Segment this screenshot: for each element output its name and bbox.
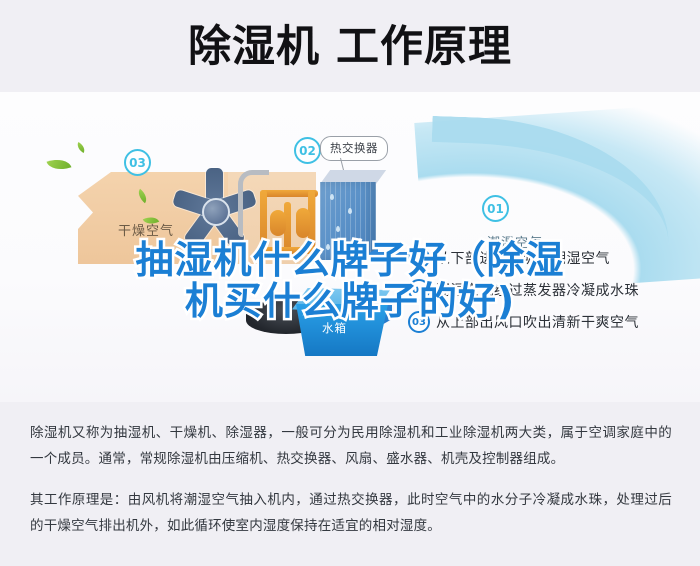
article-body: 除湿机又称为抽湿机、干燥机、除湿器，一般可分为民用除湿机和工业除湿机两大类，属于… — [30, 420, 672, 553]
water-tank-label: 水箱 — [322, 320, 347, 336]
legend-text-02: 潮湿空气经过蒸发器冷凝成水珠 — [436, 280, 639, 300]
dehumidifier-infographic: 干燥空气 潮湿空气 03 02 01 热交换器 — [0, 92, 700, 402]
step-badge-01: 01 — [482, 195, 509, 222]
step-badge-02: 02 — [294, 137, 321, 164]
leaf-icon — [47, 155, 72, 174]
condensation-droplet — [330, 194, 334, 200]
legend-row: 02 潮湿空气经过蒸发器冷凝成水珠 — [408, 274, 688, 306]
legend-badge-01: 01 — [408, 247, 430, 269]
legend-badge-03: 03 — [408, 311, 430, 333]
legend-badge-02: 02 — [408, 279, 430, 301]
article-paragraph-2: 其工作原理是：由风机将潮湿空气抽入机内，通过热交换器，此时空气中的水分子冷凝成水… — [30, 487, 672, 540]
step-badge-03: 03 — [124, 149, 151, 176]
heat-exchanger-callout: 热交换器 — [320, 136, 388, 161]
legend-row: 01 从下部进风口吸进潮湿空气 — [408, 242, 688, 274]
page-title: 除湿机 工作原理 — [188, 26, 512, 69]
condensation-droplet — [358, 238, 362, 244]
condensation-droplet — [336, 226, 340, 232]
compressor-coils — [258, 180, 324, 264]
condensation-droplet — [326, 244, 330, 250]
legend-text-03: 从上部出风口吹出清新干爽空气 — [436, 312, 639, 332]
condensation-droplet — [348, 208, 352, 214]
page-title-band: 除湿机 工作原理 — [0, 0, 700, 95]
legend-text-01: 从下部进风口吸进潮湿空气 — [436, 248, 610, 268]
leaf-icon — [75, 142, 87, 153]
diagram-legend: 01 从下部进风口吸进潮湿空气 02 潮湿空气经过蒸发器冷凝成水珠 03 从上部… — [408, 242, 688, 338]
legend-row: 03 从上部出风口吹出清新干爽空气 — [408, 306, 688, 338]
article-paragraph-1: 除湿机又称为抽湿机、干燥机、除湿器，一般可分为民用除湿机和工业除湿机两大类，属于… — [30, 420, 672, 473]
